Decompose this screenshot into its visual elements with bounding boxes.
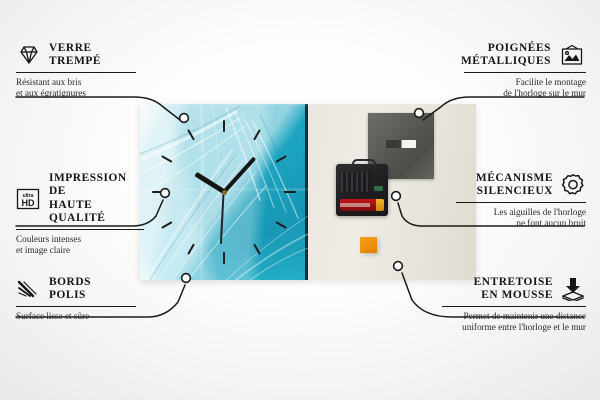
callout-bords-polis: BORDS POLIS Surface lisse et sûre	[16, 276, 136, 322]
callout-entretoise-en-mousse: ENTRETOISE EN MOUSSE Permet de maintenir…	[442, 276, 586, 334]
battery-label	[340, 203, 370, 207]
ultra-hd-icon: ultra HD	[16, 188, 42, 210]
hour-tick	[223, 120, 225, 132]
diamond-icon	[16, 45, 42, 65]
clock-face	[140, 104, 308, 280]
mechanism-hook	[352, 159, 376, 169]
callout-subtitle: Résistant aux bris et aux égratignures	[16, 77, 136, 99]
callout-subtitle: Couleurs intenses et image claire	[16, 234, 144, 256]
callout-mecanisme-silencieux: MÉCANISME SILENCIEUX Les aiguilles de l'…	[456, 172, 586, 230]
ultra-hd-bottom-label: HD	[22, 198, 35, 208]
foam-spacer	[360, 237, 377, 253]
callout-verre-trempe: VERRE TREMPÉ Résistant aux bris et aux é…	[16, 42, 136, 100]
battery-terminal	[376, 199, 384, 211]
hour-tick	[284, 191, 296, 193]
hour-tick	[187, 243, 195, 254]
product-composite	[140, 104, 476, 280]
infographic-canvas: VERRE TREMPÉ Résistant aux bris et aux é…	[0, 0, 600, 400]
callout-rule	[464, 72, 586, 73]
gear-icon	[560, 173, 586, 198]
callout-subtitle: Facilite le montage de l'horloge sur le …	[464, 77, 586, 99]
hour-tick	[253, 129, 261, 140]
hanger-keyhole-slot	[386, 140, 416, 148]
clock-mechanism	[336, 164, 388, 216]
callout-title: IMPRESSION DE HAUTE QUALITÉ	[49, 172, 144, 226]
foam-spacer-icon	[560, 277, 586, 301]
callout-title: MÉCANISME SILENCIEUX	[476, 172, 553, 199]
callout-title: VERRE TREMPÉ	[49, 42, 101, 69]
wall-mount-frame-icon	[558, 44, 586, 66]
hour-hand	[194, 172, 225, 194]
hour-tick	[152, 191, 164, 193]
callout-rule	[456, 202, 586, 203]
callout-subtitle: Permet de maintenir une distance uniform…	[442, 311, 586, 333]
hour-tick	[187, 129, 195, 140]
polished-edge-icon	[16, 279, 42, 299]
callout-rule	[16, 306, 136, 307]
hour-tick	[223, 252, 225, 264]
callout-poignees-metalliques: POIGNÉES MÉTALLIQUES Facilite le montage…	[464, 42, 586, 100]
clock-front-panel	[140, 104, 308, 280]
clock-back-panel	[308, 104, 476, 280]
second-hand	[220, 192, 224, 244]
callout-rule	[16, 229, 144, 230]
callout-subtitle: Surface lisse et sûre	[16, 311, 136, 322]
mechanism-grill	[341, 172, 371, 192]
hour-tick	[253, 243, 261, 254]
battery	[340, 199, 384, 211]
hour-tick	[275, 221, 286, 229]
minute-hand	[223, 156, 257, 193]
callout-title: BORDS POLIS	[49, 276, 91, 303]
mechanism-chip	[374, 186, 383, 191]
callout-title: POIGNÉES MÉTALLIQUES	[461, 42, 551, 69]
callout-impression-haute-qualite: ultra HD IMPRESSION DE HAUTE QUALITÉ Cou…	[16, 172, 144, 256]
hour-tick	[275, 155, 286, 163]
hour-tick	[161, 221, 172, 229]
callout-rule	[16, 72, 136, 73]
hour-tick	[161, 155, 172, 163]
callout-title: ENTRETOISE EN MOUSSE	[474, 276, 553, 303]
callout-subtitle: Les aiguilles de l'horloge ne font aucun…	[456, 207, 586, 229]
hand-center-cap	[222, 190, 227, 195]
callout-rule	[442, 306, 586, 307]
